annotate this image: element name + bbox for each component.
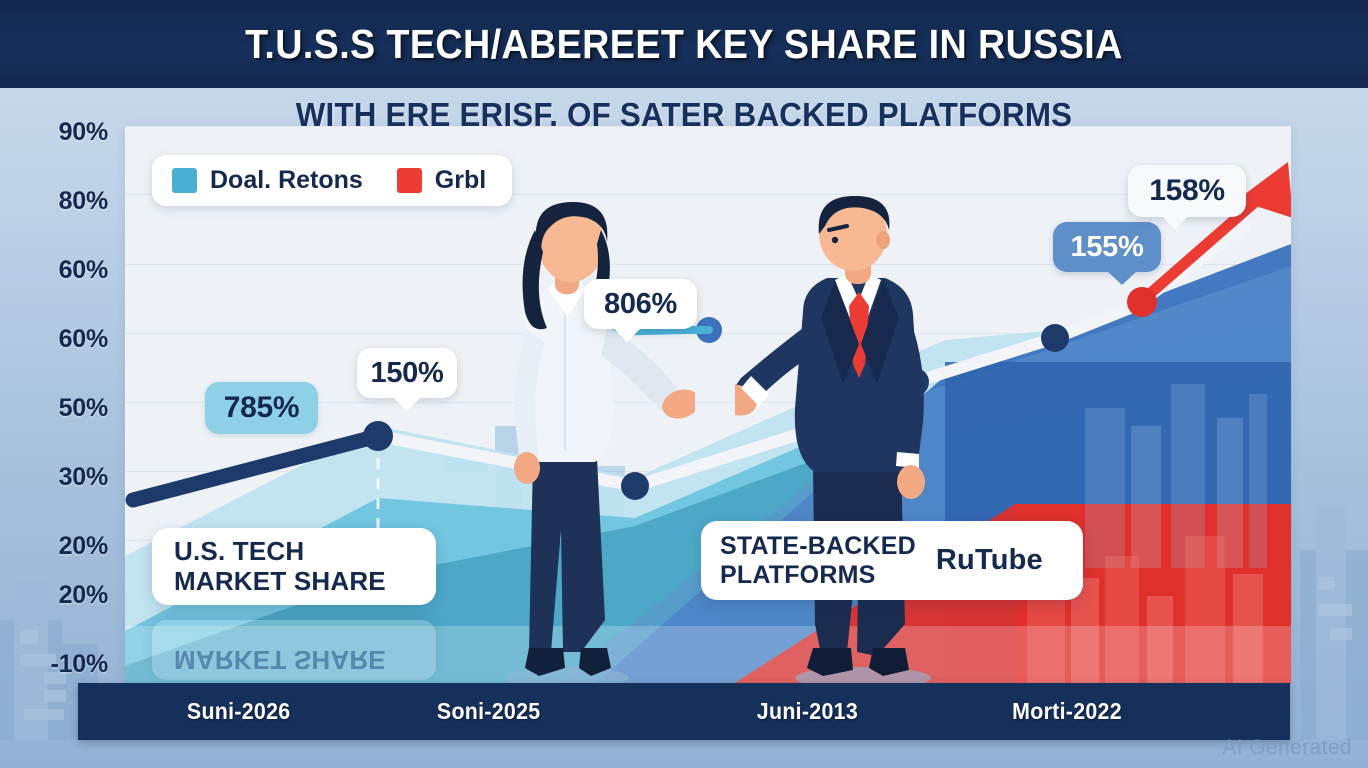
infographic-canvas: T.U.S.S TECH/ABEREET KEY SHARE IN RUSSIA…: [0, 0, 1368, 768]
x-tick-2: Juni-2013: [757, 698, 858, 725]
label-card-us-tech-reflection: MARKET SHARE: [152, 620, 436, 680]
card-rutube-label: RuTube: [936, 544, 1043, 577]
illustration-man: [735, 196, 985, 692]
y-axis-labels: 90% 80% 60% 60% 50% 30% 20% 20% -10%: [0, 126, 122, 684]
card-state-line1: STATE-BACKED: [720, 532, 916, 560]
page-subtitle: WITH ERE ERISF. OF SATER BACKED PLATFORM…: [34, 96, 1334, 134]
y-tick-6: 20%: [59, 532, 108, 561]
label-card-us-tech[interactable]: U.S. TECH MARKET SHARE: [152, 528, 436, 605]
label-card-state-backed[interactable]: STATE-BACKED PLATFORMS RuTube: [701, 521, 1083, 600]
callout-785[interactable]: 785%: [205, 382, 318, 434]
data-point-marker-red: [1127, 287, 1157, 317]
ai-generated-watermark: AI Generated: [1222, 736, 1352, 760]
callout-150[interactable]: 150%: [357, 348, 457, 398]
callout-785-value: 785%: [224, 391, 300, 425]
illustration-woman: [455, 200, 695, 692]
y-tick-2: 60%: [59, 256, 108, 285]
callout-158[interactable]: 158%: [1128, 165, 1246, 217]
x-tick-3: Morti-2022: [1012, 698, 1122, 725]
legend-label-1: Grbl: [435, 166, 486, 195]
legend-swatch-red: [397, 168, 422, 193]
card-us-line1: U.S. TECH: [174, 537, 386, 566]
x-tick-1: Soni-2025: [437, 698, 541, 725]
y-tick-4: 50%: [59, 394, 108, 423]
legend-swatch-cyan: [172, 168, 197, 193]
y-tick-7: 20%: [59, 581, 108, 610]
data-point-marker: [1041, 324, 1069, 352]
callout-806-tail: [612, 327, 642, 342]
y-tick-5: 30%: [59, 463, 108, 492]
legend-label-0: Doal. Retons: [210, 166, 363, 195]
callout-806-value: 806%: [604, 288, 677, 321]
callout-155-value: 155%: [1071, 231, 1144, 264]
chart-legend: Doal. Retons Grbl: [152, 155, 512, 206]
card-state-line2: PLATFORMS: [720, 561, 916, 589]
callout-155[interactable]: 155%: [1053, 222, 1161, 272]
y-tick-8: -10%: [50, 650, 108, 679]
card-us-reflection-text: MARKET SHARE: [174, 645, 386, 674]
callout-158-value: 158%: [1149, 174, 1225, 208]
y-tick-1: 80%: [59, 187, 108, 216]
legend-item-0[interactable]: Doal. Retons: [172, 166, 363, 195]
data-point-marker: [363, 421, 393, 451]
legend-item-1[interactable]: Grbl: [397, 166, 486, 195]
callout-150-value: 150%: [371, 357, 444, 390]
callout-150-tail: [392, 396, 422, 411]
y-tick-3: 60%: [59, 325, 108, 354]
x-axis-bar: Suni-2026 Soni-2025 Juni-2013 Morti-2022: [78, 683, 1290, 740]
x-tick-0: Suni-2026: [187, 698, 291, 725]
card-us-line2: MARKET SHARE: [174, 567, 386, 596]
page-title: T.U.S.S TECH/ABEREET KEY SHARE IN RUSSIA: [245, 21, 1123, 68]
title-bar: T.U.S.S TECH/ABEREET KEY SHARE IN RUSSIA: [0, 0, 1368, 88]
callout-155-tail: [1107, 271, 1137, 285]
callout-806[interactable]: 806%: [584, 279, 697, 329]
callout-158-tail: [1160, 214, 1190, 230]
